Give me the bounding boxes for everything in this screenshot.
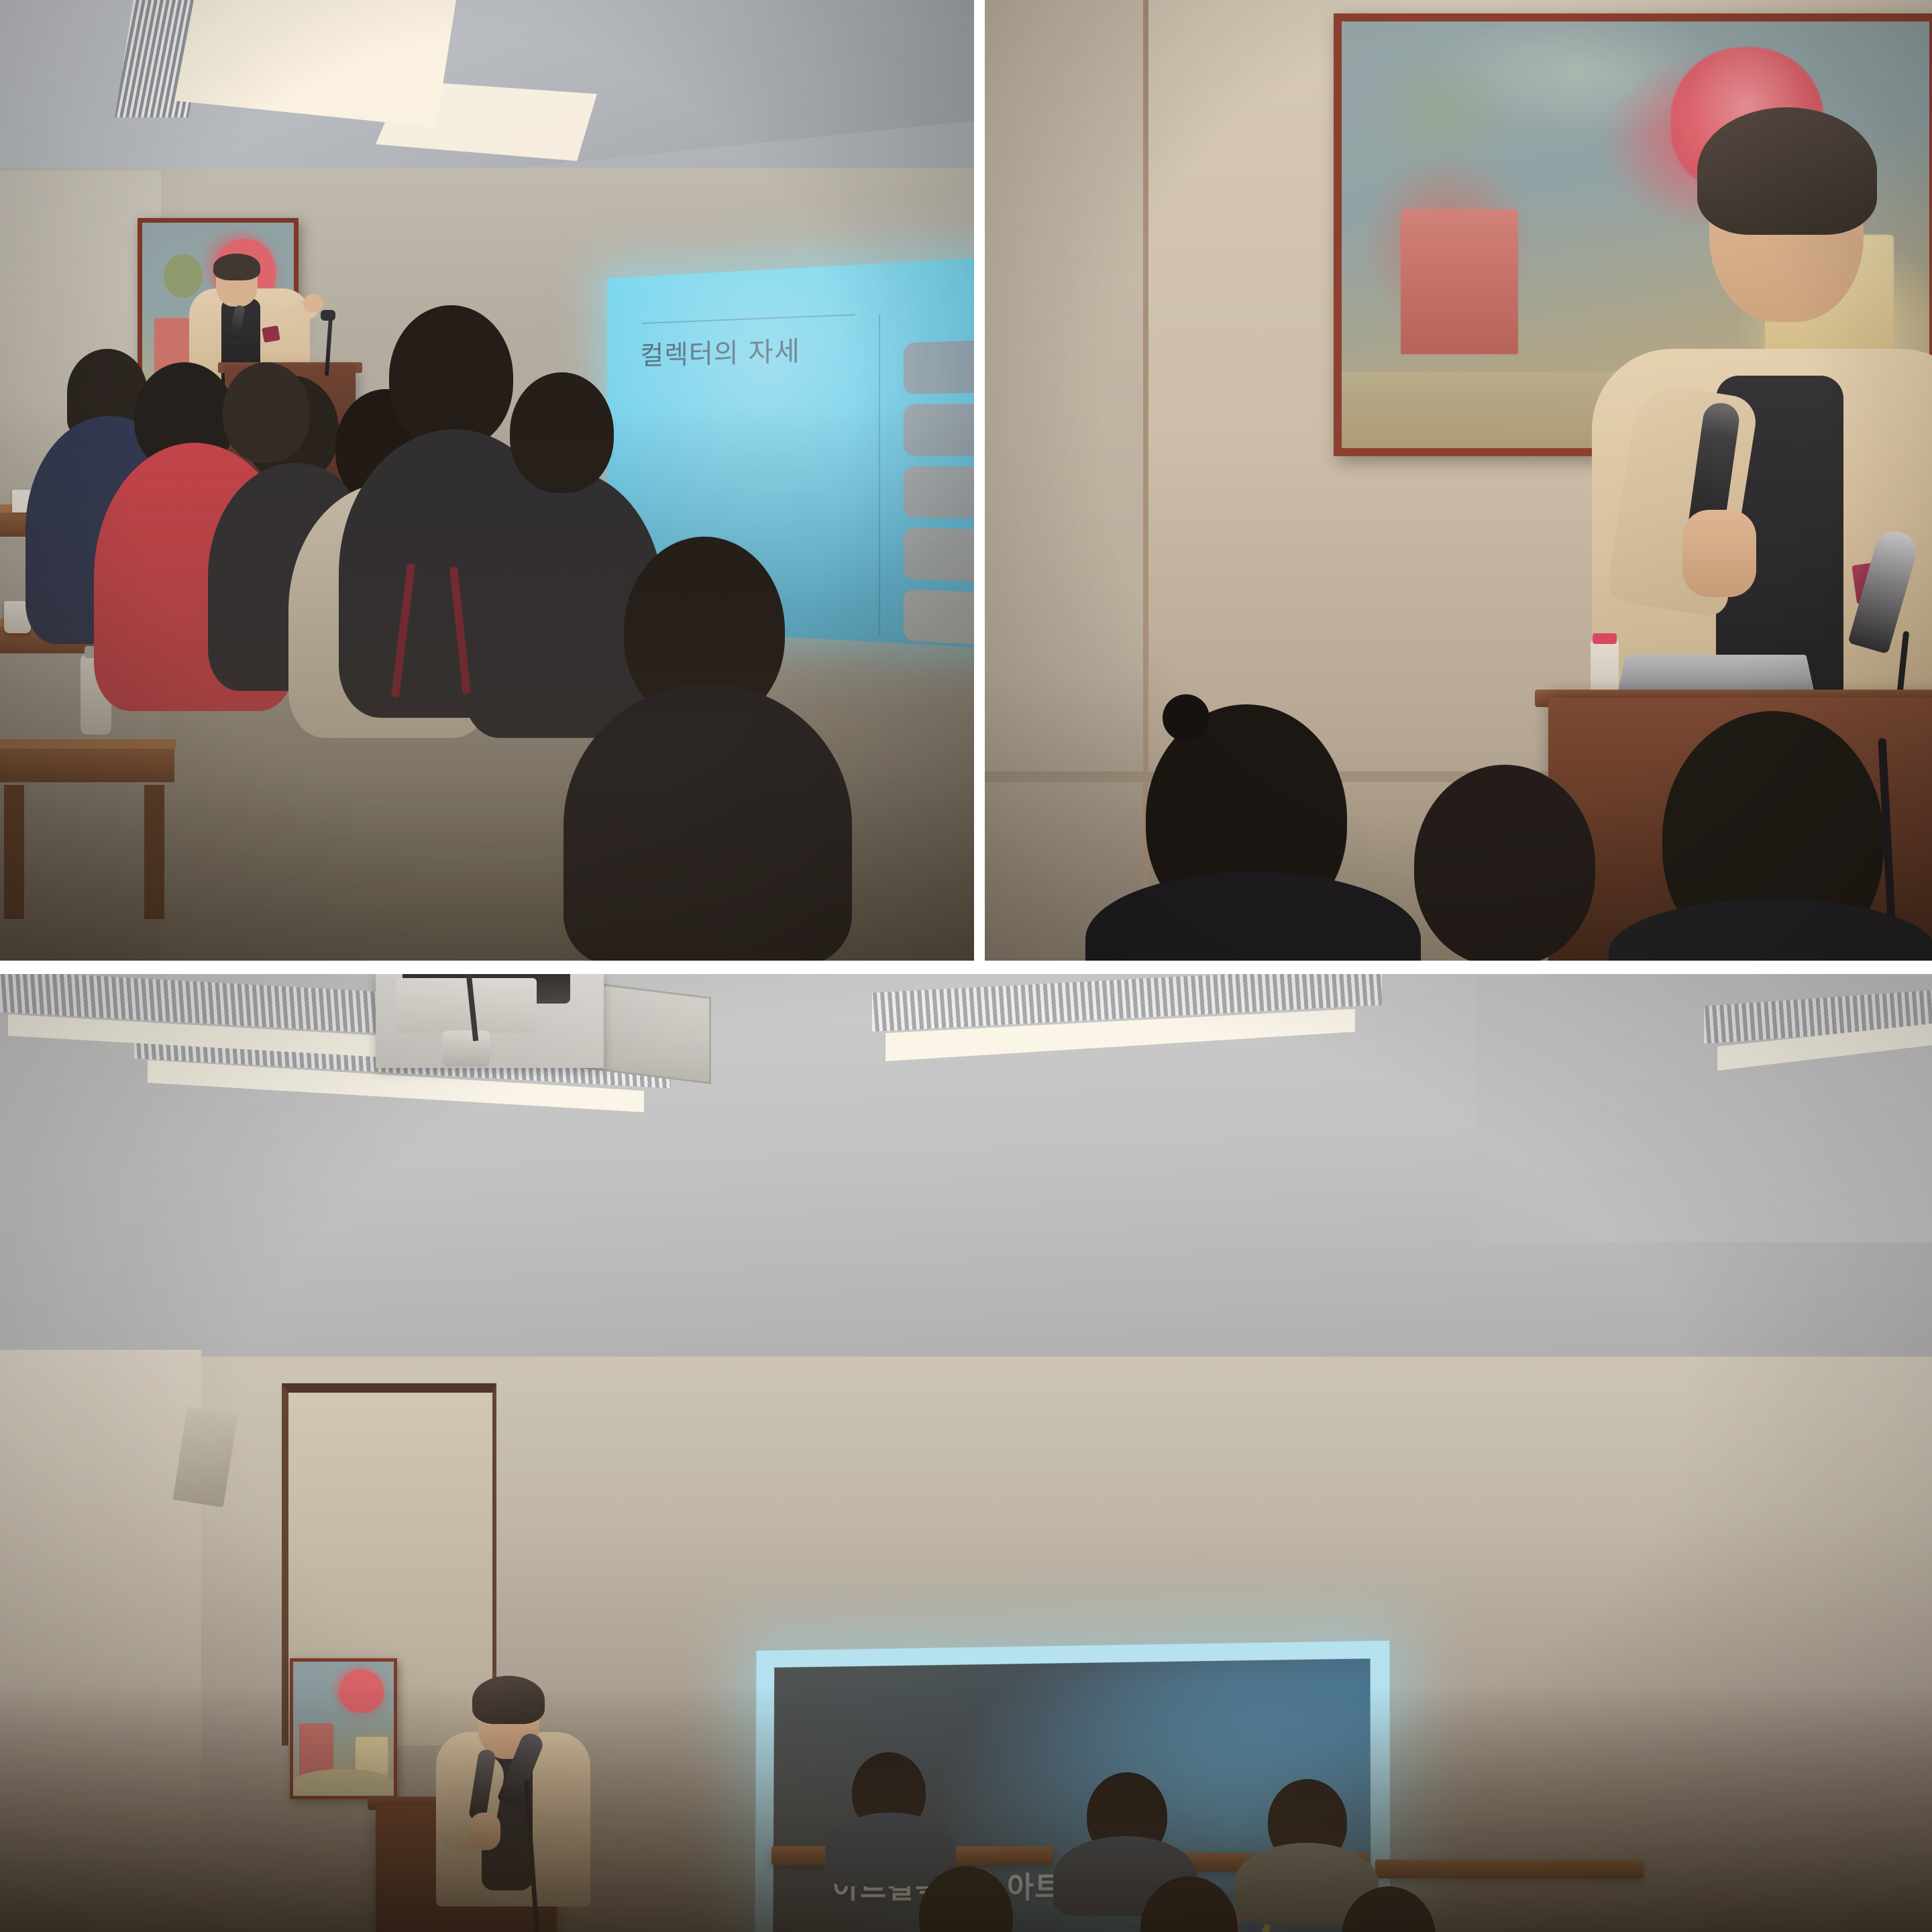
hair-bun bbox=[1163, 694, 1210, 741]
ceiling-projector bbox=[396, 978, 537, 1033]
room-shadow bbox=[0, 402, 974, 961]
microphone-icon bbox=[321, 310, 335, 321]
pocket-square bbox=[262, 325, 280, 343]
speaker-hair bbox=[1697, 107, 1877, 235]
bottle-cap bbox=[1593, 633, 1617, 644]
laptop bbox=[1618, 655, 1814, 691]
slide-rule bbox=[641, 314, 855, 324]
photo-collage: 컬렉터의 자세 bbox=[0, 0, 1932, 1932]
slide-title: 컬렉터의 자세 bbox=[640, 329, 800, 372]
tree-shape bbox=[164, 254, 203, 298]
church-building bbox=[1401, 209, 1518, 354]
tree-shape bbox=[1365, 47, 1518, 175]
collage-panel-bottom: 아트컬렉터와 아트테크 GALLERY FM 대표 배기성 SDA 사단법인 서… bbox=[0, 974, 1932, 1932]
collage-panel-top-right bbox=[985, 0, 1932, 961]
speaker-hair bbox=[213, 254, 260, 280]
projector-lens bbox=[443, 1030, 490, 1067]
collage-panel-top-left: 컬렉터의 자세 bbox=[0, 0, 974, 961]
slide-box bbox=[904, 339, 974, 394]
speaker-hand bbox=[303, 294, 323, 313]
speaker-hand bbox=[1682, 510, 1756, 597]
audience-head bbox=[1414, 765, 1595, 961]
room-shadow bbox=[0, 1685, 1932, 1932]
side-wall bbox=[985, 0, 1146, 961]
